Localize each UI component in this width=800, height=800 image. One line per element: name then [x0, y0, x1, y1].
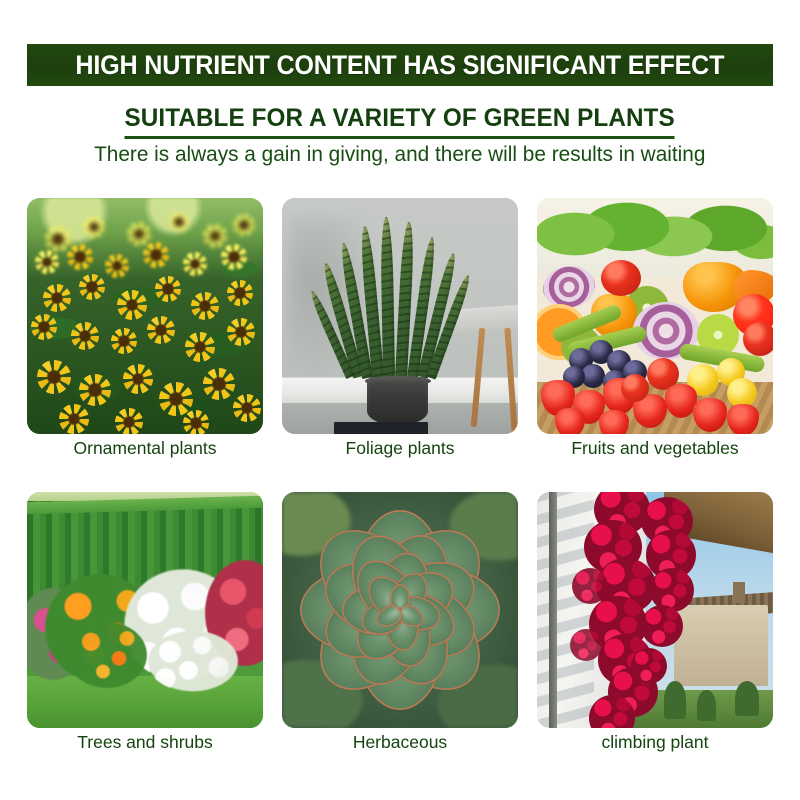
- scene-fruit-vegetable-basket: [537, 198, 773, 434]
- gallery-caption: Trees and shrubs: [27, 732, 263, 753]
- scene-yellow-flower-bed: [27, 198, 263, 434]
- gallery-caption: climbing plant: [537, 732, 773, 753]
- scene-hedge-and-flowering-shrubs: [27, 492, 263, 728]
- gallery-caption: Foliage plants: [282, 438, 518, 459]
- thumbnail-trees-and-shrubs: [27, 492, 263, 728]
- gallery-item-climbing-plant: climbing plant: [537, 492, 773, 728]
- thumbnail-climbing-plant: [537, 492, 773, 728]
- thumbnail-ornamental-plants: [27, 198, 263, 434]
- scene-bougainvillea-on-wall: [537, 492, 773, 728]
- gallery-item-ornamental-plants: Ornamental plants: [27, 198, 263, 434]
- thumbnail-foliage-plants: [282, 198, 518, 434]
- thumbnail-herbaceous: [282, 492, 518, 728]
- scene-snake-plant-room: [282, 198, 518, 434]
- gallery-item-foliage-plants: Foliage plants: [282, 198, 518, 434]
- scene-echeveria-succulent: [282, 492, 518, 728]
- gallery-caption: Fruits and vegetables: [537, 438, 773, 459]
- gallery-item-trees-and-shrubs: Trees and shrubs: [27, 492, 263, 728]
- gallery-caption: Herbaceous: [282, 732, 518, 753]
- gallery-item-herbaceous: Herbaceous: [282, 492, 518, 728]
- promo-page: HIGH NUTRIENT CONTENT HAS SIGNIFICANT EF…: [0, 0, 800, 800]
- plant-category-gallery: Ornamental plants: [0, 0, 800, 800]
- thumbnail-fruits-and-vegetables: [537, 198, 773, 434]
- gallery-caption: Ornamental plants: [27, 438, 263, 459]
- gallery-item-fruits-and-vegetables: Fruits and vegetables: [537, 198, 773, 434]
